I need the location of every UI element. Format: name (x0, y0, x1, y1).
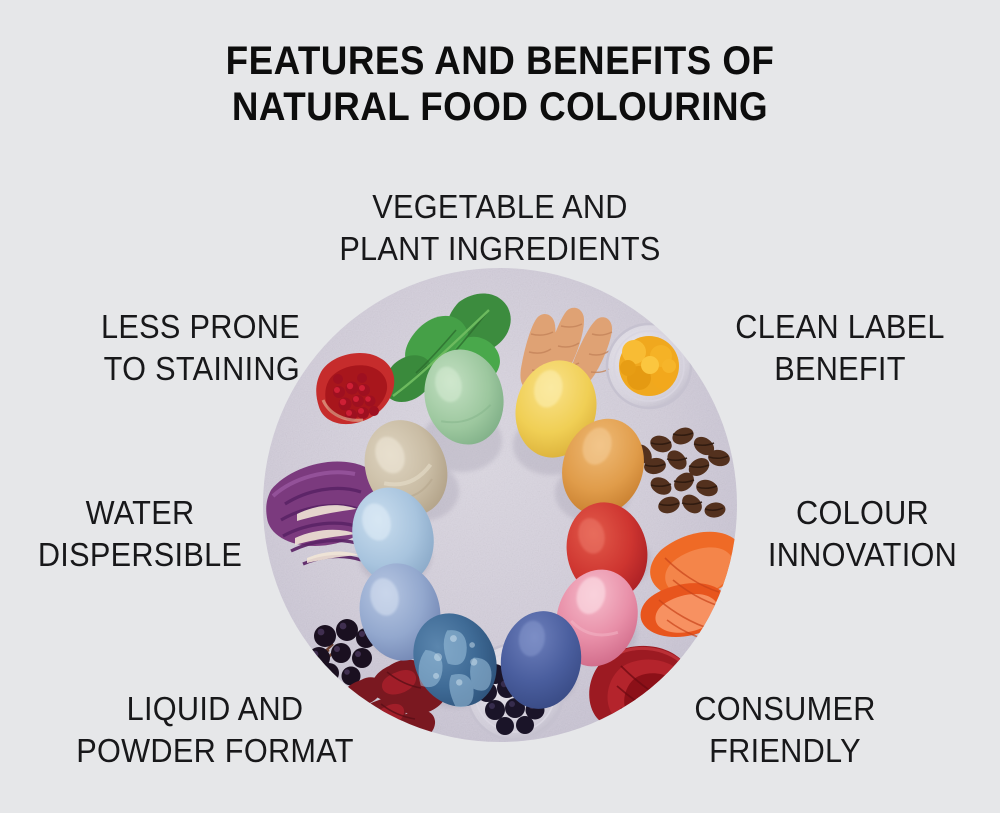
benefit-label-water-dispersible: WATER DISPERSIBLE (19, 492, 261, 576)
benefit-line-2: INNOVATION (744, 534, 981, 576)
benefit-line-2: PLANT INGREDIENTS (35, 228, 965, 270)
benefit-label-consumer-friendly: CONSUMER FRIENDLY (650, 688, 920, 772)
benefit-line-1: CONSUMER (650, 688, 920, 730)
benefit-line-1: WATER (19, 492, 261, 534)
benefit-line-2: DISPERSIBLE (19, 534, 261, 576)
benefit-label-liquid-and-powder-format: LIQUID AND POWDER FORMAT (62, 688, 369, 772)
benefit-line-2: POWDER FORMAT (62, 730, 369, 772)
benefit-line-1: LESS PRONE (40, 306, 300, 348)
infographic-canvas: FEATURES AND BENEFITS OF NATURAL FOOD CO… (0, 0, 1000, 813)
benefit-label-colour-innovation: COLOUR INNOVATION (744, 492, 981, 576)
benefit-label-less-prone-to-staining: LESS PRONE TO STAINING (40, 306, 300, 390)
natural-colouring-photo (263, 268, 737, 742)
page-title-line-1: FEATURES AND BENEFITS OF (40, 38, 960, 84)
page-title: FEATURES AND BENEFITS OF NATURAL FOOD CO… (0, 38, 1000, 130)
turmeric-powder-bowl (607, 324, 691, 408)
benefit-line-2: BENEFIT (710, 348, 970, 390)
benefit-line-1: LIQUID AND (62, 688, 369, 730)
benefit-line-1: VEGETABLE AND (35, 186, 965, 228)
benefit-line-1: CLEAN LABEL (710, 306, 970, 348)
benefit-label-clean-label-benefit: CLEAN LABEL BENEFIT (710, 306, 970, 390)
benefit-line-1: COLOUR (744, 492, 981, 534)
benefit-line-2: FRIENDLY (650, 730, 920, 772)
benefit-line-2: TO STAINING (40, 348, 300, 390)
page-title-line-2: NATURAL FOOD COLOURING (40, 84, 960, 130)
benefit-label-vegetable-and-plant-ingredients: VEGETABLE AND PLANT INGREDIENTS (35, 186, 965, 270)
